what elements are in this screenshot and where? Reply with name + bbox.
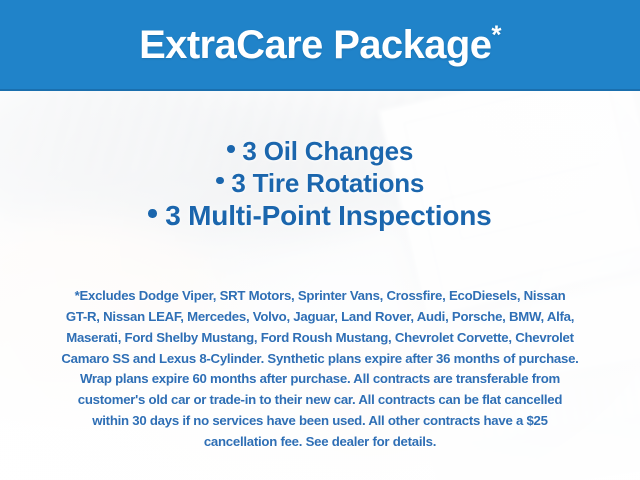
title-asterisk: * — [491, 19, 501, 49]
disclaimer-line: within 30 days if no services have been … — [26, 411, 614, 432]
disclaimer-line: Maserati, Ford Shelby Mustang, Ford Rous… — [26, 328, 614, 349]
header-banner: ExtraCare Package* — [0, 0, 640, 91]
disclaimer-line: GT-R, Nissan LEAF, Mercedes, Volvo, Jagu… — [26, 307, 614, 328]
benefit-label: 3 Multi-Point Inspections — [165, 200, 491, 231]
disclaimer-line: customer's old car or trade-in to their … — [26, 390, 614, 411]
benefit-label: 3 Oil Changes — [242, 136, 413, 166]
disclaimer-text: *Excludes Dodge Viper, SRT Motors, Sprin… — [26, 286, 614, 453]
disclaimer-line: Camaro SS and Lexus 8-Cylinder. Syntheti… — [26, 349, 614, 370]
disclaimer-line: cancellation fee. See dealer for details… — [26, 432, 614, 453]
list-item: 3 Tire Rotations — [0, 168, 640, 200]
bullet-dot-icon — [227, 145, 235, 153]
bullet-dot-icon — [216, 177, 224, 185]
extracare-package-ad: ExtraCare Package* 3 Oil Changes 3 Tire … — [0, 0, 640, 480]
disclaimer-line: *Excludes Dodge Viper, SRT Motors, Sprin… — [26, 286, 614, 307]
benefits-list: 3 Oil Changes 3 Tire Rotations 3 Multi-P… — [0, 136, 640, 234]
page-title-text: ExtraCare Package — [139, 23, 491, 67]
bullet-dot-icon — [148, 209, 156, 217]
page-title: ExtraCare Package* — [139, 25, 501, 65]
list-item: 3 Multi-Point Inspections — [0, 199, 640, 233]
list-item: 3 Oil Changes — [0, 136, 640, 168]
disclaimer-line: Wrap plans expire 60 months after purcha… — [26, 369, 614, 390]
benefit-label: 3 Tire Rotations — [231, 168, 424, 198]
